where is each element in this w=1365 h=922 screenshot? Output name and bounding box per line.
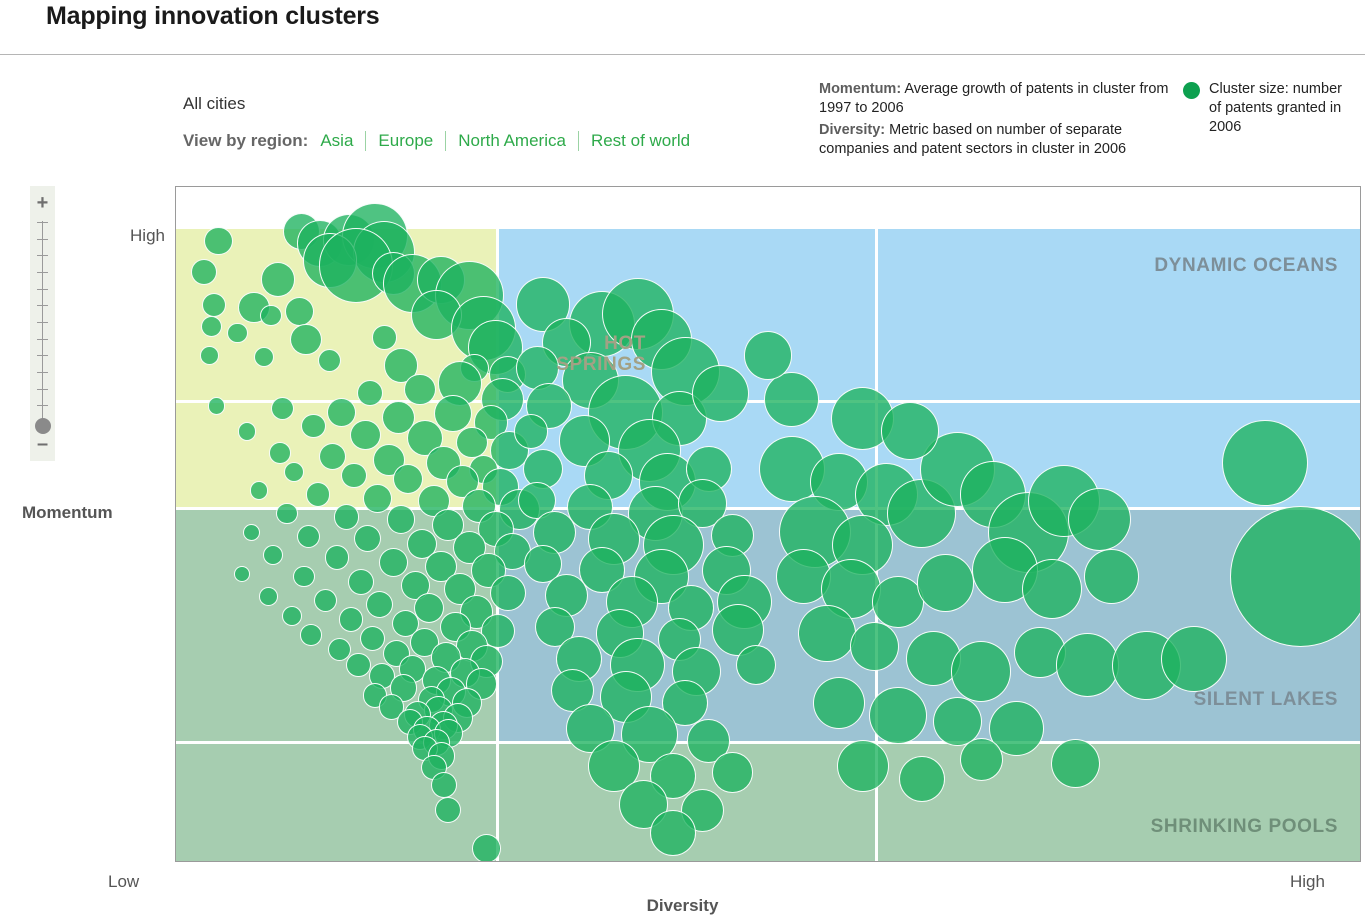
bubble-point[interactable]	[431, 772, 457, 798]
bubble-point[interactable]	[201, 316, 223, 338]
bubble-point[interactable]	[263, 545, 283, 565]
region-link-asia[interactable]: Asia	[318, 131, 365, 151]
bubble-point[interactable]	[1084, 549, 1139, 604]
bubble-point[interactable]	[357, 380, 383, 406]
bubble-point[interactable]	[798, 605, 856, 663]
bubble-point[interactable]	[319, 443, 346, 470]
x-axis-low-tick: Low	[108, 872, 139, 892]
zoom-tick	[37, 339, 48, 340]
quadrant-label-shrinking-pools: SHRINKING POOLS	[1151, 816, 1338, 838]
definitions-note: Momentum: Average growth of patents in c…	[819, 80, 1179, 162]
zoom-tick	[37, 255, 48, 256]
bubble-point[interactable]	[414, 593, 444, 623]
bubble-point[interactable]	[393, 464, 423, 494]
bubble-point[interactable]	[692, 365, 750, 423]
bubble-point[interactable]	[372, 325, 396, 349]
region-link-europe[interactable]: Europe	[366, 131, 445, 151]
zoom-out-icon[interactable]: –	[30, 434, 55, 454]
zoom-tick	[37, 405, 48, 406]
bubble-point[interactable]	[276, 503, 298, 525]
bubble-point[interactable]	[293, 566, 315, 588]
bubble-point[interactable]	[254, 347, 274, 367]
bubble-point[interactable]	[951, 641, 1011, 701]
quadrant-label-dynamic-oceans: DYNAMIC OCEANS	[1154, 255, 1338, 277]
bubble-point[interactable]	[271, 397, 294, 420]
bubble-point[interactable]	[269, 442, 291, 464]
zoom-tick	[37, 389, 48, 390]
bubble-point[interactable]	[300, 624, 322, 646]
bubble-point[interactable]	[282, 606, 302, 626]
bubble-point[interactable]	[297, 525, 320, 548]
bubble-point[interactable]	[881, 402, 939, 460]
zoom-track[interactable]	[42, 221, 43, 425]
cluster-dot-icon	[1183, 82, 1200, 99]
bubble-point[interactable]	[348, 569, 374, 595]
bubble-point[interactable]	[1161, 626, 1227, 692]
bubble-point[interactable]	[712, 752, 752, 792]
diversity-definition-key: Diversity:	[819, 122, 885, 138]
bubble-layer[interactable]	[176, 187, 1360, 861]
bubble-point[interactable]	[260, 305, 282, 327]
header-divider	[0, 54, 1365, 55]
bubble-point[interactable]	[363, 484, 392, 513]
bubble-point[interactable]	[261, 262, 296, 297]
bubble-point[interactable]	[325, 545, 349, 569]
zoom-in-icon[interactable]: +	[30, 193, 55, 213]
x-axis-high-tick: High	[1290, 872, 1325, 892]
zoom-tick	[37, 239, 48, 240]
all-cities-label: All cities	[183, 94, 245, 114]
bubble-point[interactable]	[350, 420, 380, 450]
bubble-point[interactable]	[472, 834, 501, 862]
bubble-point[interactable]	[1230, 506, 1361, 647]
bubble-point[interactable]	[318, 349, 341, 372]
zoom-tick	[37, 222, 48, 223]
bubble-point[interactable]	[341, 463, 367, 489]
scatter-plot-area[interactable]: HOT SPRINGS DYNAMIC OCEANS SILENT LAKES …	[175, 186, 1361, 862]
bubble-point[interactable]	[204, 227, 233, 256]
bubble-point[interactable]	[917, 554, 975, 612]
bubble-point[interactable]	[379, 548, 408, 577]
bubble-point[interactable]	[490, 575, 526, 611]
bubble-point[interactable]	[744, 331, 793, 380]
page-title: Mapping innovation clusters	[46, 2, 380, 31]
bubble-point[interactable]	[1051, 739, 1100, 788]
size-legend: Cluster size: number of patents granted …	[1183, 80, 1358, 137]
bubble-point[interactable]	[234, 566, 250, 582]
bubble-point[interactable]	[387, 505, 416, 534]
bubble-point[interactable]	[764, 372, 819, 427]
bubble-point[interactable]	[456, 427, 488, 459]
bubble-point[interactable]	[366, 591, 393, 618]
size-legend-label: Cluster size: number of patents granted …	[1209, 80, 1358, 137]
x-axis-title: Diversity	[0, 896, 1365, 916]
bubble-point[interactable]	[869, 687, 927, 745]
bubble-point[interactable]	[650, 810, 696, 856]
bubble-point[interactable]	[227, 323, 247, 343]
diversity-definition: Diversity: Metric based on number of sep…	[819, 121, 1179, 160]
bubble-point[interactable]	[736, 645, 776, 685]
y-axis-high-tick: High	[70, 226, 165, 246]
zoom-tick	[37, 322, 48, 323]
bubble-point[interactable]	[813, 677, 865, 729]
bubble-point[interactable]	[202, 293, 226, 317]
bubble-point[interactable]	[238, 422, 257, 441]
bubble-point[interactable]	[339, 607, 363, 631]
region-link-north-america[interactable]: North America	[446, 131, 578, 151]
bubble-point[interactable]	[243, 524, 260, 541]
bubble-point[interactable]	[346, 653, 370, 677]
bubble-point[interactable]	[191, 259, 217, 285]
bubble-point[interactable]	[208, 397, 225, 414]
region-link-rest-of-world[interactable]: Rest of world	[579, 131, 702, 151]
bubble-point[interactable]	[200, 346, 219, 365]
bubble-point[interactable]	[434, 395, 471, 432]
bubble-point[interactable]	[327, 398, 356, 427]
bubble-point[interactable]	[837, 740, 889, 792]
bubble-point[interactable]	[404, 374, 436, 406]
bubble-point[interactable]	[514, 414, 549, 449]
bubble-point[interactable]	[301, 414, 325, 438]
bubble-point[interactable]	[314, 589, 337, 612]
zoom-tick	[37, 289, 48, 290]
momentum-definition: Momentum: Average growth of patents in c…	[819, 80, 1179, 119]
y-axis-title: Momentum	[22, 503, 113, 523]
bubble-point[interactable]	[259, 587, 278, 606]
zoom-tick	[37, 372, 48, 373]
bubble-point[interactable]	[250, 481, 269, 500]
bubble-point[interactable]	[1068, 488, 1131, 551]
zoom-slider[interactable]: + –	[30, 186, 55, 461]
view-by-region-control: View by region: Asia Europe North Americ…	[183, 131, 702, 151]
zoom-tick	[37, 272, 48, 273]
zoom-tick	[37, 305, 48, 306]
bubble-point[interactable]	[435, 797, 461, 823]
bubble-point[interactable]	[899, 756, 945, 802]
bubble-point[interactable]	[306, 482, 330, 506]
bubble-point[interactable]	[360, 626, 386, 652]
bubble-point[interactable]	[1222, 420, 1308, 506]
view-by-region-label: View by region:	[183, 131, 308, 151]
bubble-point[interactable]	[290, 324, 322, 356]
bubble-point[interactable]	[354, 525, 381, 552]
momentum-definition-key: Momentum:	[819, 81, 901, 97]
bubble-point[interactable]	[284, 462, 304, 482]
quadrant-label-hot-springs: HOT SPRINGS	[556, 333, 646, 376]
bubble-point[interactable]	[1022, 559, 1082, 619]
bubble-point[interactable]	[334, 504, 360, 530]
bubble-point[interactable]	[1056, 633, 1119, 696]
zoom-handle[interactable]	[35, 418, 51, 434]
zoom-tick	[37, 355, 48, 356]
quadrant-label-silent-lakes: SILENT LAKES	[1194, 689, 1338, 711]
bubble-point[interactable]	[960, 738, 1003, 781]
bubble-point[interactable]	[850, 622, 899, 671]
bubble-point[interactable]	[285, 297, 314, 326]
